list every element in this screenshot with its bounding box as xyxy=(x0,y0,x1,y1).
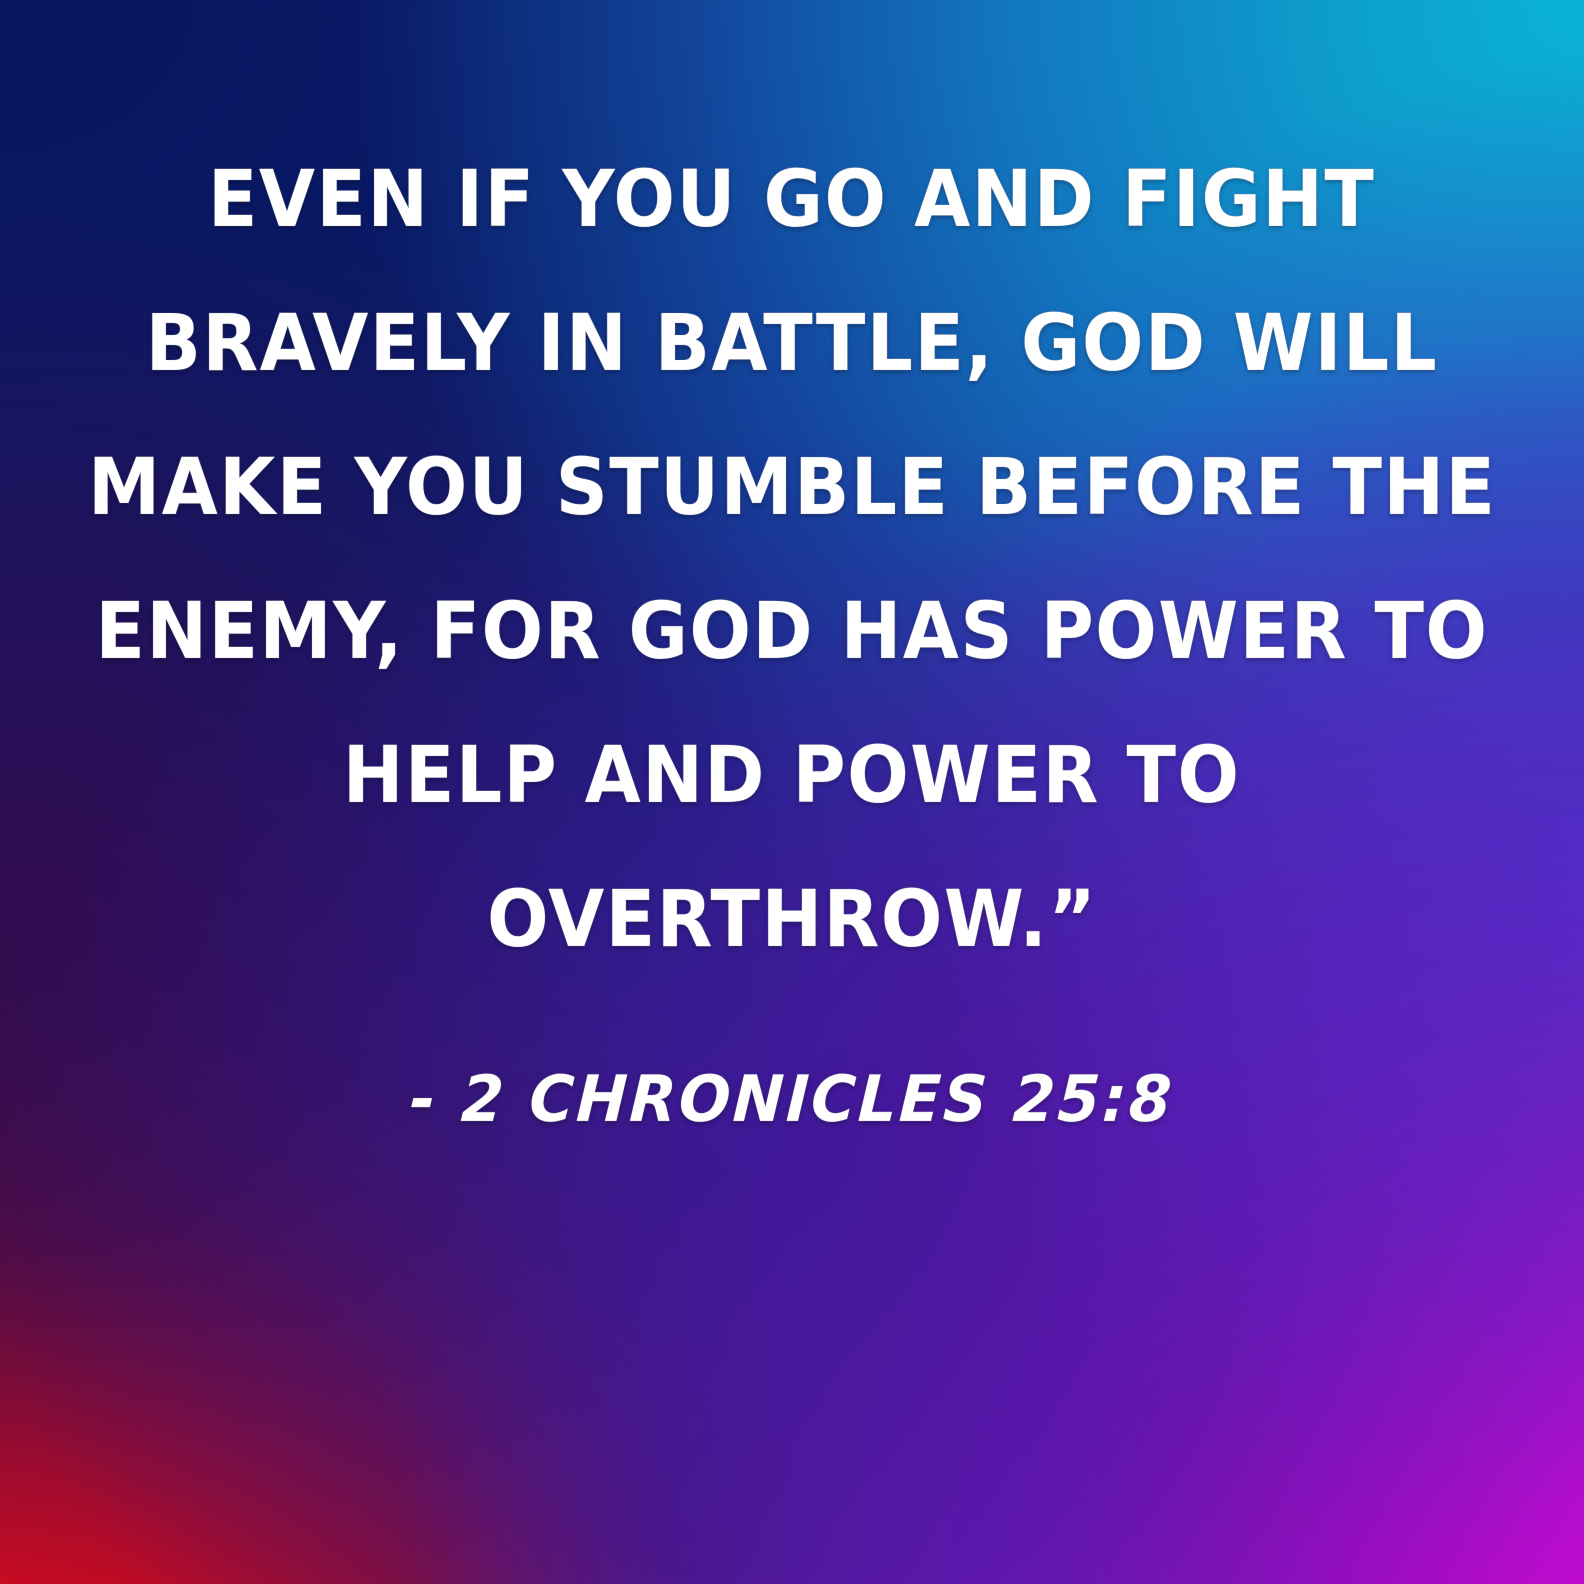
verse-line: OVERTHROW.” xyxy=(487,848,1097,992)
verse-line: BRAVELY IN BATTLE, GOD WILL xyxy=(146,272,1439,416)
verse-line: ENEMY, FOR GOD HAS POWER TO xyxy=(96,560,1489,704)
verse-line: MAKE YOU STUMBLE BEFORE THE xyxy=(88,416,1496,560)
verse-line: HELP AND POWER TO xyxy=(343,704,1241,848)
verse-citation: - 2 CHRONICLES 25:8 xyxy=(408,1052,1176,1148)
verse-line: EVEN IF YOU GO AND FIGHT xyxy=(208,128,1375,272)
verse-text-block: EVEN IF YOU GO AND FIGHT BRAVELY IN BATT… xyxy=(0,128,1584,1148)
verse-card: EVEN IF YOU GO AND FIGHT BRAVELY IN BATT… xyxy=(0,0,1584,1584)
